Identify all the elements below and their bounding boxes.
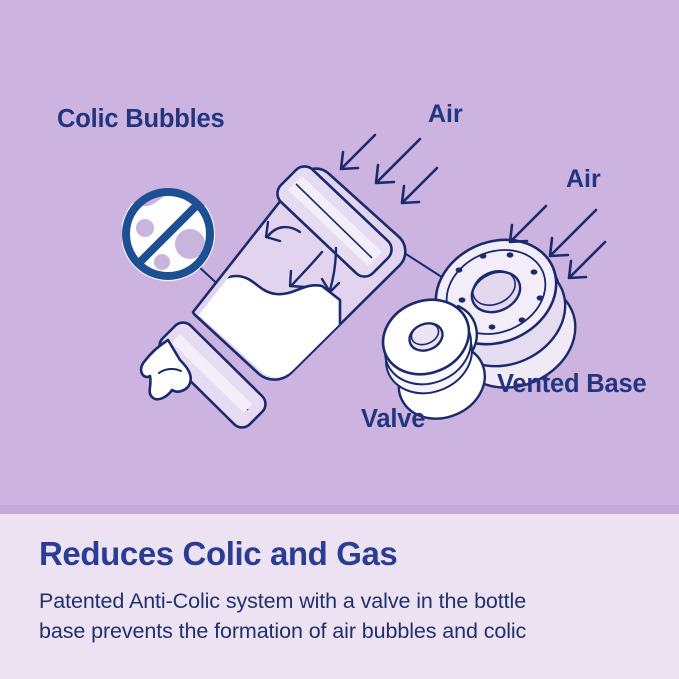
infographic-root: Colic Bubbles Air Air Vented Base Valve … [0,0,679,679]
label-air-left: Air [428,102,463,127]
air-arrow-left-2 [376,139,420,183]
bubble-medium [136,219,154,237]
anti-colic-diagram-art [0,0,679,513]
air-arrow-right-2 [550,210,596,256]
caption-body-line-2: base prevents the formation of air bubbl… [39,616,654,646]
panel-divider [0,505,679,514]
caption-body-line-1: Patented Anti-Colic system with a valve … [39,586,654,616]
air-flow-arrows-icon [341,135,437,203]
bubble-small [154,254,170,270]
air-arrow-left-1 [341,135,375,169]
caption-panel: Reduces Colic and Gas Patented Anti-Coli… [0,514,679,679]
label-vented-base: Vented Base [497,372,646,398]
prohibition-bubbles-icon [118,186,222,284]
label-valve: Valve [361,407,425,433]
illustration-panel: Colic Bubbles Air Air Vented Base Valve [0,0,679,513]
air-arrow-left-3 [402,168,437,203]
air-arrow-right-3 [569,242,605,278]
caption-body: Patented Anti-Colic system with a valve … [39,586,654,646]
caption-title: Reduces Colic and Gas [39,535,397,573]
label-colic-bubbles: Colic Bubbles [57,107,224,133]
label-air-right: Air [566,167,601,192]
air-arrow-right-1 [510,206,546,242]
